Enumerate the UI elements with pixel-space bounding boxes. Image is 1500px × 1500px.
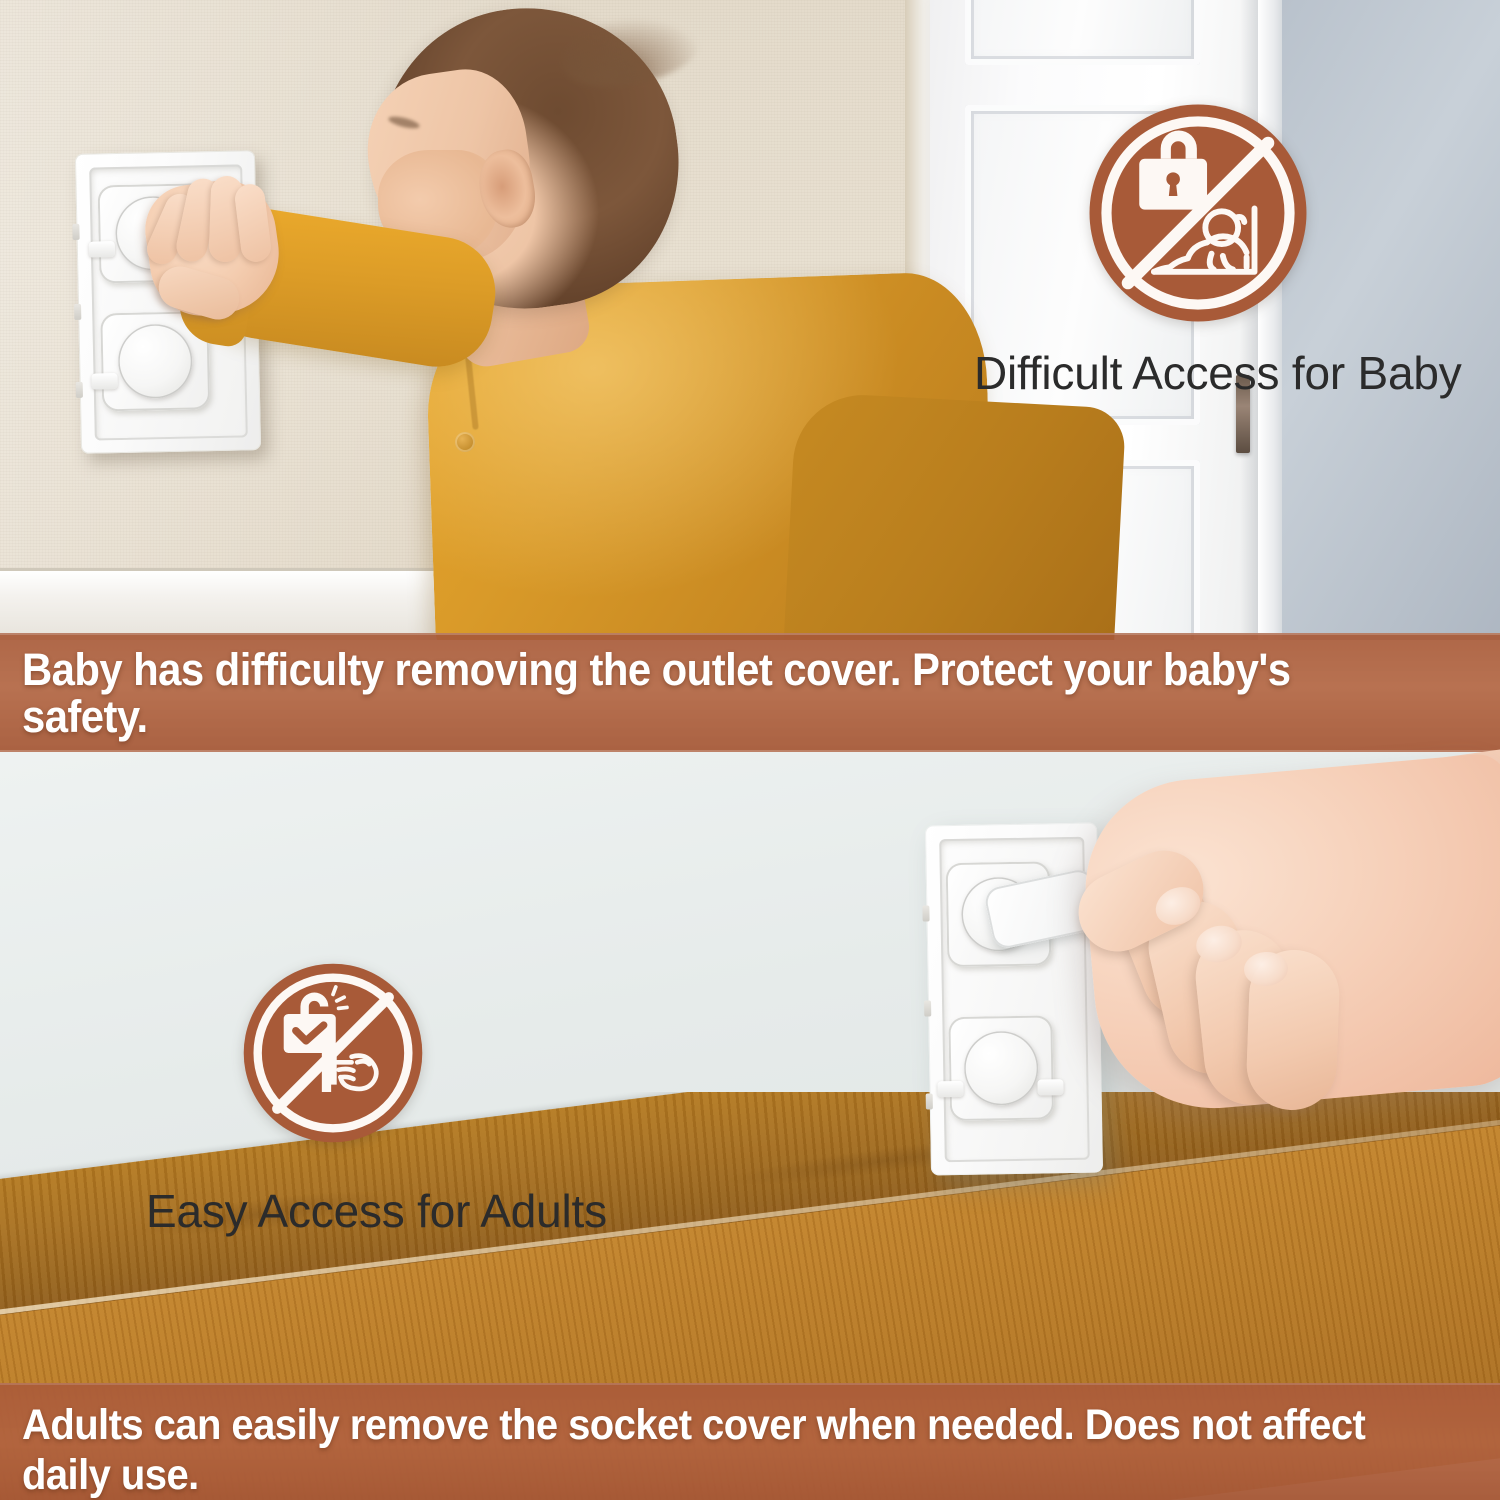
no-baby-access-lock-icon [1085,100,1311,326]
plate-clip-lower [76,382,83,398]
plate-clip-mid [924,1000,931,1016]
baby-back [784,392,1127,640]
badge-label-difficult-access: Difficult Access for Baby [974,346,1462,400]
gray-wall-background [1282,0,1500,640]
bottom-banner: Adults can easily remove the socket cove… [0,1383,1500,1500]
top-scene-photo: Difficult Access for Baby [0,0,1500,640]
door-panel-top [965,0,1200,65]
top-banner: Baby has difficulty removing the outlet … [0,633,1500,752]
plate-clip-lower [926,1093,933,1109]
top-banner-text: Baby has difficulty removing the outlet … [22,645,1397,740]
socket-disc [964,1031,1039,1106]
shirt-button [455,432,475,452]
bottom-banner-text: Adults can easily remove the socket cove… [22,1401,1384,1500]
badge-label-easy-access: Easy Access for Adults [146,1184,607,1238]
socket-disc [117,324,193,400]
product-feature-panel: Difficult Access for Baby Baby has diffi… [0,0,1500,1500]
socket-release-tab [89,241,115,258]
plate-clip-upper [72,224,79,240]
plate-clip-mid [74,304,81,320]
easy-adult-access-unlock-icon [240,960,426,1146]
plate-clip-upper [922,905,929,921]
socket-release-tab [1037,1079,1063,1095]
socket-release-tab [91,373,117,390]
socket-release-tab [937,1081,963,1097]
socket-cover-lower [948,1015,1054,1121]
